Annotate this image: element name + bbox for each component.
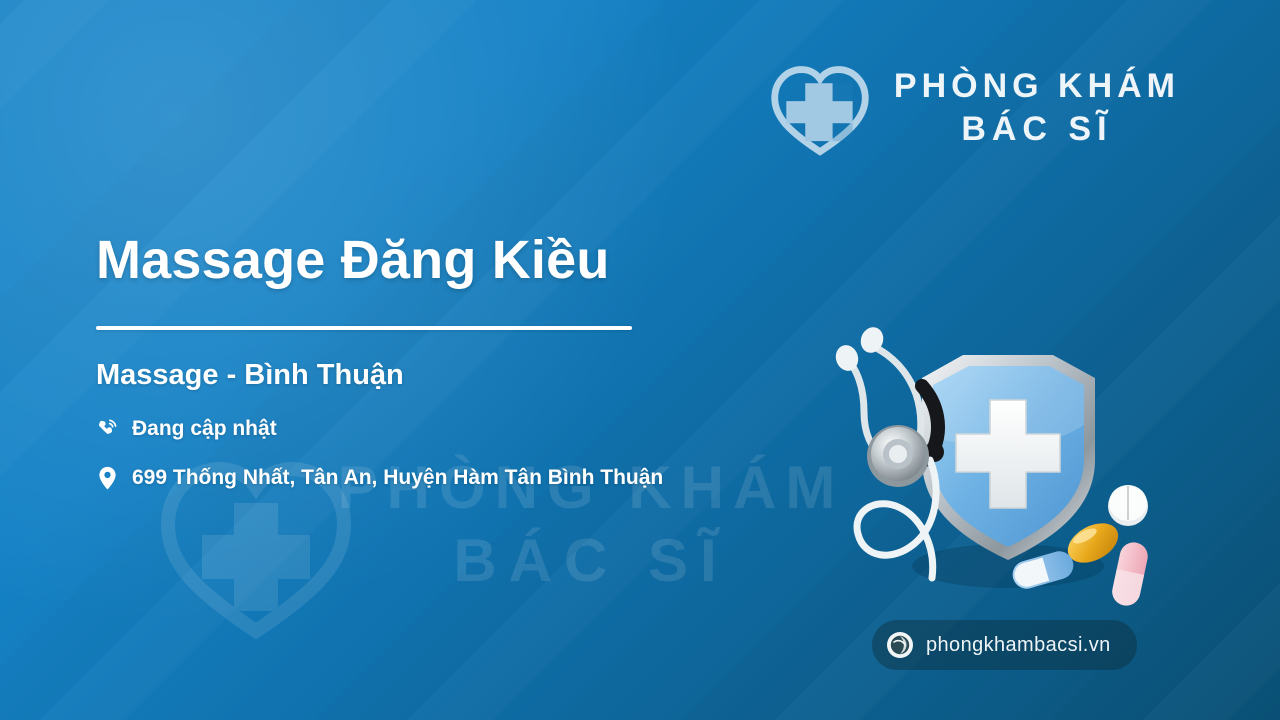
page-title: Massage Đăng Kiều bbox=[96, 230, 736, 290]
pink-white-capsule bbox=[1110, 540, 1151, 608]
phone-ringing-icon bbox=[96, 416, 118, 442]
map-pin-icon bbox=[96, 465, 118, 491]
content-block: Massage Đăng Kiều Massage - Bình Thuận Đ… bbox=[96, 230, 736, 492]
website-url: phongkhambacsi.vn bbox=[926, 634, 1111, 657]
address-value: 699 Thống Nhất, Tân An, Huyện Hàm Tân Bì… bbox=[132, 464, 663, 492]
heart-cross-logo-icon bbox=[766, 58, 874, 158]
address-row: 699 Thống Nhất, Tân An, Huyện Hàm Tân Bì… bbox=[96, 464, 736, 492]
medical-illustration bbox=[830, 320, 1170, 630]
website-badge[interactable]: phongkhambacsi.vn bbox=[872, 620, 1137, 670]
promo-card: PHÒNG KHÁM BÁC SĨ PHÒNG KHÁM BÁC SĨ Mass… bbox=[0, 0, 1280, 720]
globe-icon bbox=[886, 631, 914, 659]
white-tablet bbox=[1108, 485, 1148, 526]
brand-line2: BÁC SĨ bbox=[894, 111, 1180, 148]
watermark-line2: BÁC SĨ bbox=[311, 530, 871, 591]
phone-value: Đang cập nhật bbox=[132, 415, 277, 443]
subtitle: Massage - Bình Thuận bbox=[96, 358, 736, 393]
brand-text: PHÒNG KHÁM BÁC SĨ bbox=[894, 68, 1180, 147]
divider bbox=[96, 326, 632, 330]
phone-row: Đang cập nhật bbox=[96, 415, 736, 443]
brand-line1: PHÒNG KHÁM bbox=[894, 68, 1180, 105]
brand-logo: PHÒNG KHÁM BÁC SĨ bbox=[766, 58, 1180, 158]
